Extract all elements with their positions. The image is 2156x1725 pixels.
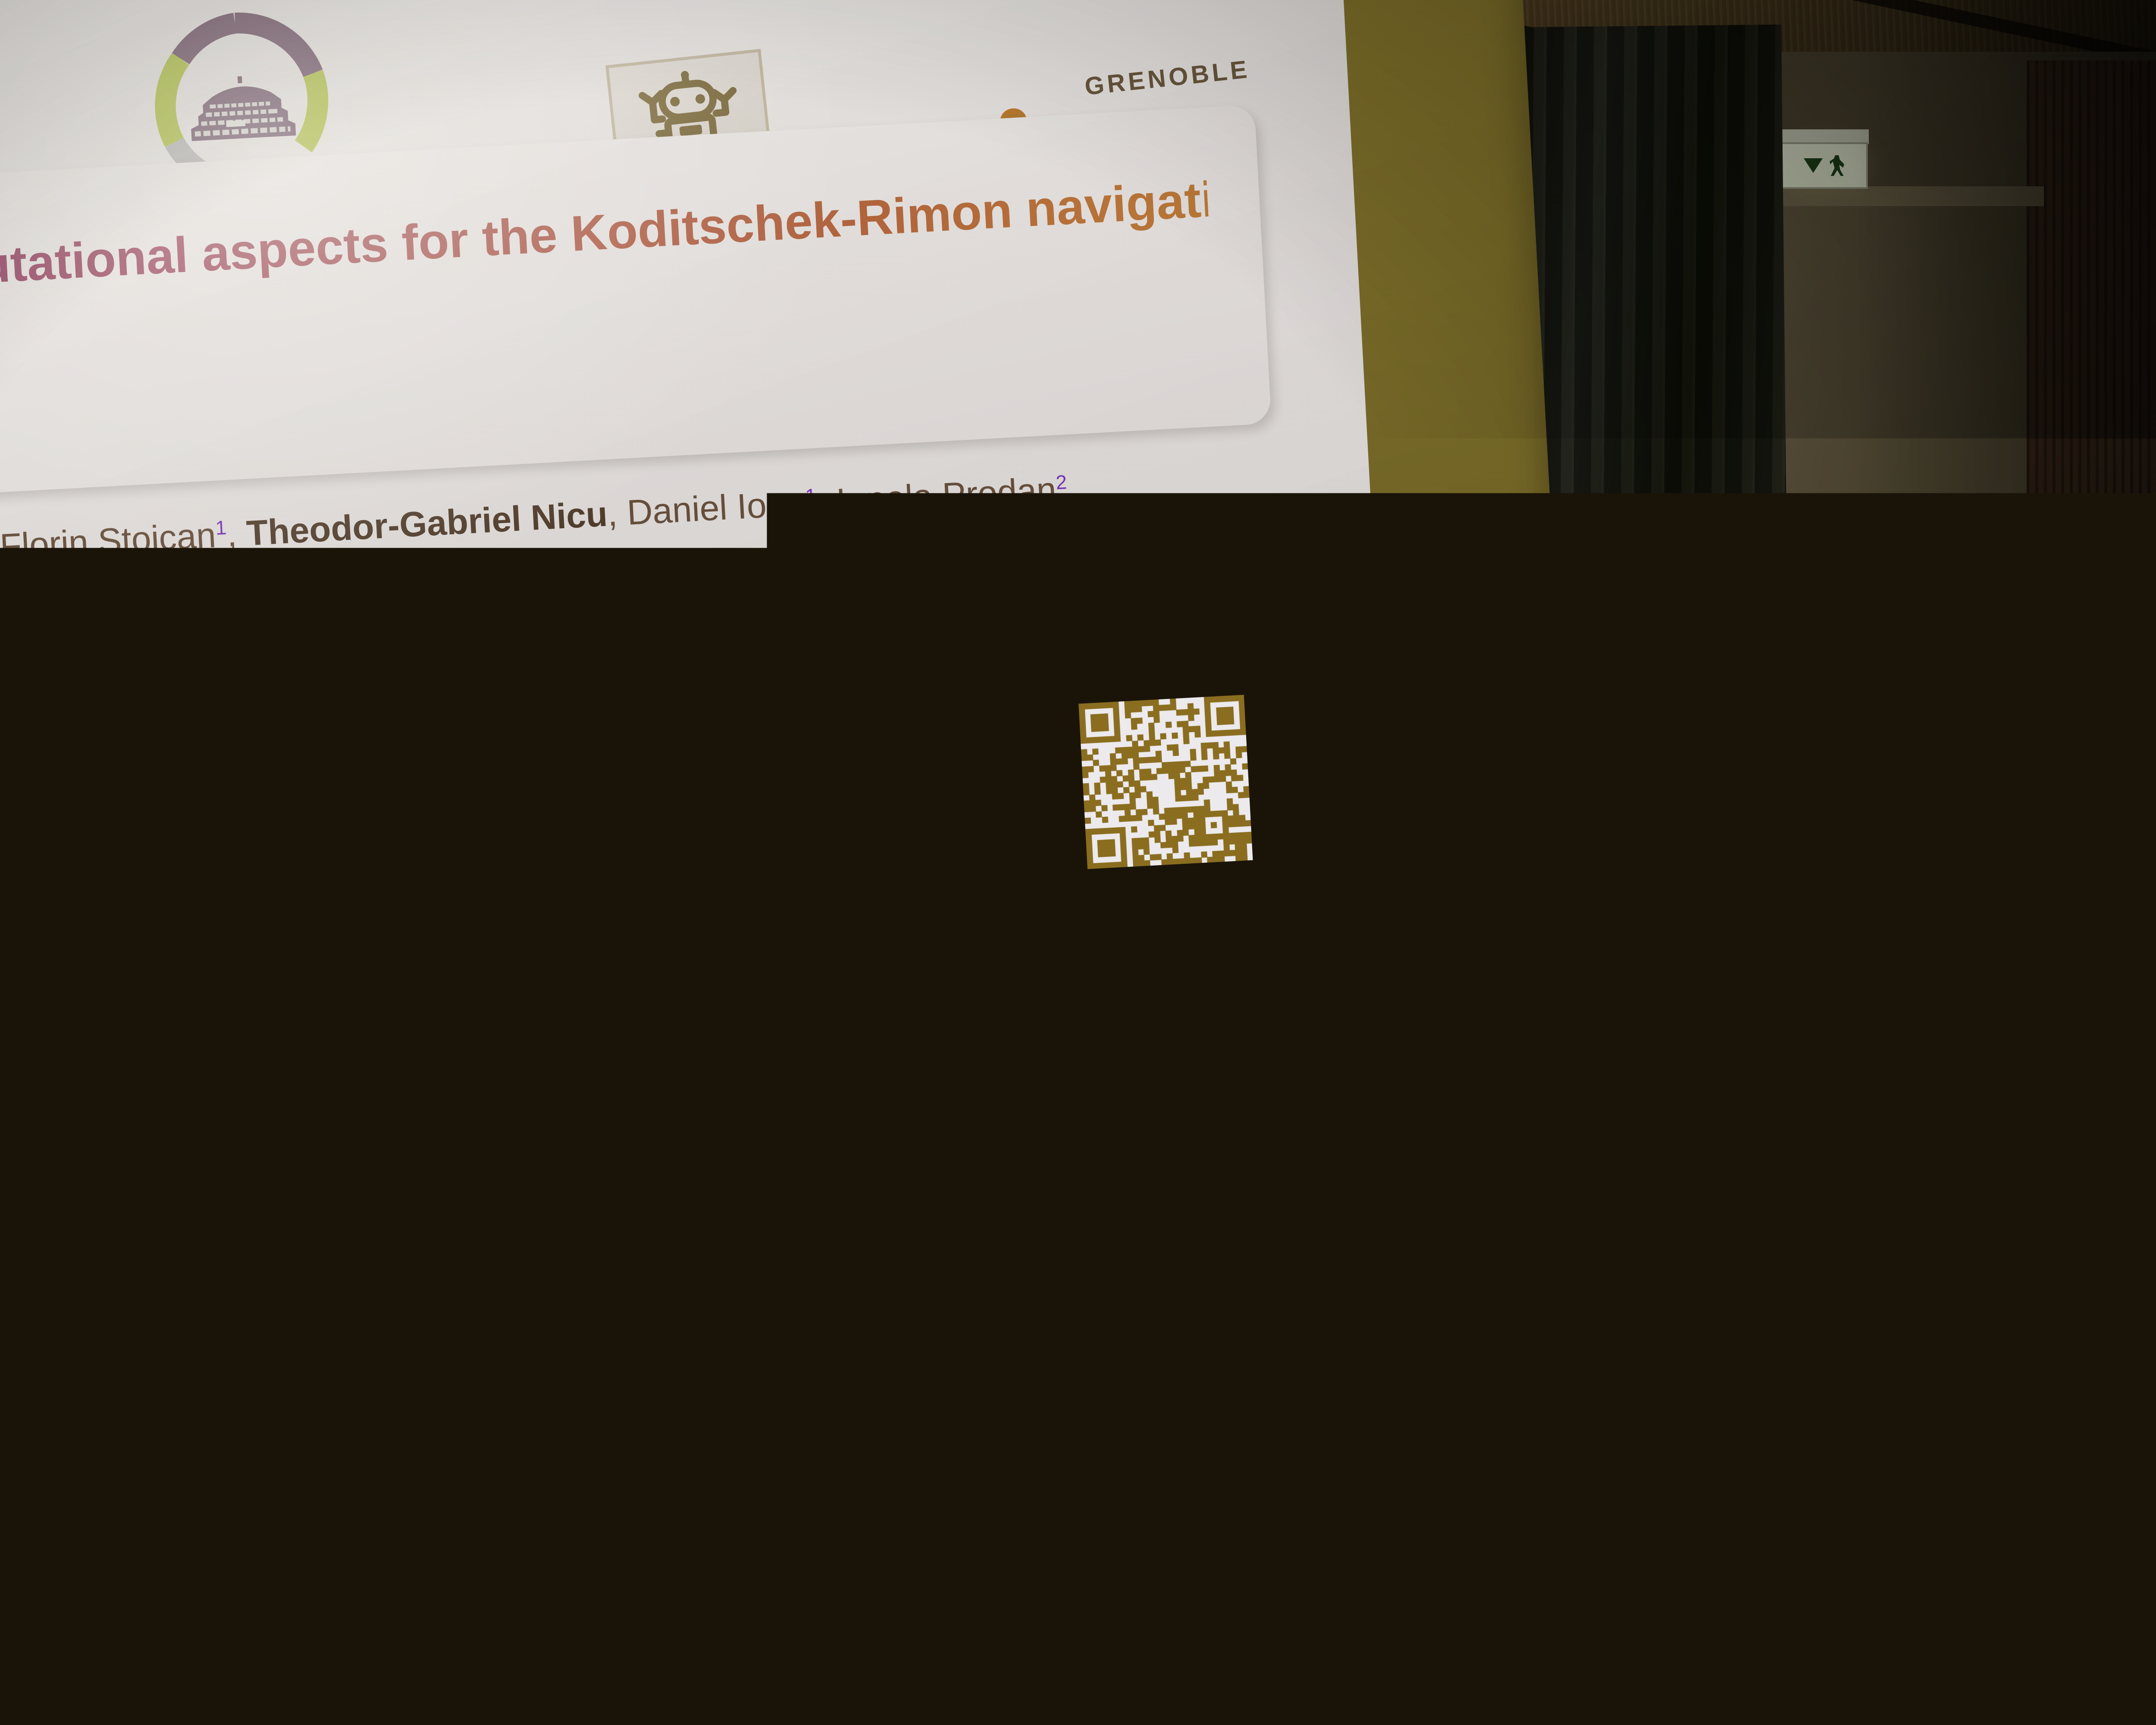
author-4: Ionela Prodan bbox=[835, 470, 1057, 521]
floor-light-reflection bbox=[86, 1509, 1423, 1725]
emergency-exit-sign bbox=[1780, 142, 1868, 189]
qr-code[interactable] bbox=[1074, 690, 1257, 874]
date-suffix: , 2025 bbox=[598, 714, 696, 758]
author-1: Florin Stoican bbox=[0, 516, 217, 567]
exit-arrow-icon bbox=[1804, 158, 1823, 173]
title-plate bbox=[0, 105, 1272, 509]
lecture-hall-photo: replan GRENOBLE UGA bbox=[0, 0, 2156, 1725]
author-sep-3: , bbox=[816, 482, 837, 522]
author-sep-1: , bbox=[226, 514, 248, 554]
blackboard-foot bbox=[1951, 1546, 1990, 1563]
author-list: Florin Stoican1, Theodor-Gabriel Nicu, D… bbox=[0, 469, 1069, 568]
blackboard bbox=[1934, 655, 2156, 1242]
grenoble-label: GRENOBLE bbox=[1083, 55, 1251, 101]
exit-sign-casing bbox=[1776, 129, 1869, 144]
author-2: Theodor-Gabriel Nicu bbox=[245, 494, 608, 553]
author-sep-2: , bbox=[606, 493, 628, 533]
author-3-affiliation-marker: 1 bbox=[805, 484, 817, 507]
date-prefix: Tuesday, July 1 bbox=[345, 720, 584, 772]
author-4-affiliation-marker: 2 bbox=[1055, 470, 1067, 493]
running-man-icon bbox=[1830, 155, 1844, 176]
dark-wood-panel bbox=[2027, 60, 2156, 716]
presentation-date: Tuesday, July 1st, 2025 bbox=[345, 714, 695, 772]
date-ordinal: st bbox=[582, 721, 599, 744]
author-3: Daniel Ioan bbox=[626, 483, 807, 532]
upb-building-icon bbox=[183, 63, 300, 144]
projection-screen-area: replan GRENOBLE UGA bbox=[0, 0, 1595, 1138]
author-1-affiliation-marker: 1 bbox=[215, 516, 227, 539]
presentation-slide: replan GRENOBLE UGA bbox=[0, 0, 1394, 1007]
